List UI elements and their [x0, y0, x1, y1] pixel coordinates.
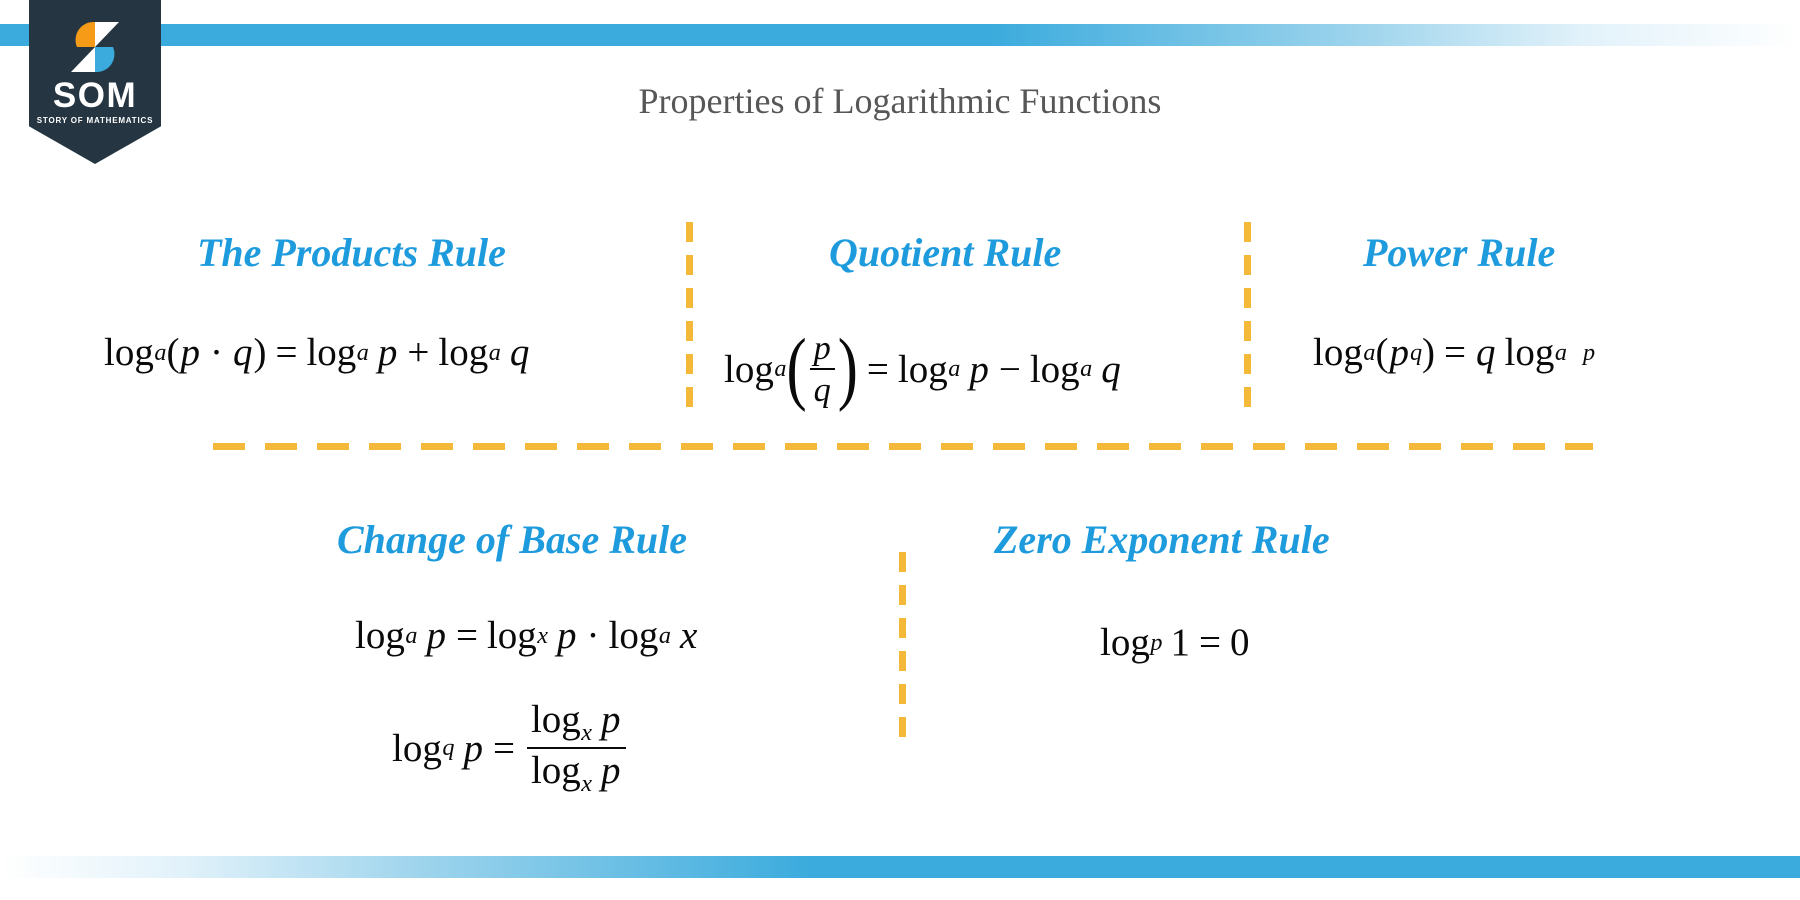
vertical-divider-2 — [1244, 222, 1251, 417]
log-base-2: a — [356, 339, 369, 367]
fraction-numerator: logxp — [527, 700, 626, 747]
slide-canvas: SOM STORY OF MATHEMATICS Properties of L… — [0, 0, 1800, 900]
arg-left: p — [462, 726, 484, 771]
rparen: ) — [1422, 330, 1435, 375]
top-banner-stripe — [0, 24, 1800, 46]
horizontal-divider — [213, 443, 1593, 450]
log-token-2: log — [898, 347, 948, 392]
log-base-3: a — [1080, 355, 1093, 383]
log-base: a — [1363, 339, 1376, 367]
fraction-log-over-log: logxp logxp — [527, 700, 626, 797]
fraction-numerator: p — [810, 330, 835, 368]
equals-sign: = — [1199, 620, 1221, 665]
arg-2: p — [377, 330, 399, 375]
log-result: 0 — [1230, 620, 1250, 665]
log-token: log — [104, 330, 154, 375]
log-token-2: log — [487, 613, 537, 658]
log-token: log — [1100, 620, 1150, 665]
arg-left: p — [425, 613, 447, 658]
formula-quotient-rule: loga( p q )=logap−logaq — [724, 330, 1122, 408]
power-trailing-arg: p — [1583, 339, 1595, 367]
vertical-divider-3 — [899, 552, 906, 742]
heading-quotient-rule: Quotient Rule — [829, 229, 1061, 276]
lparen: ( — [166, 330, 179, 375]
log-token: log — [392, 726, 442, 771]
arg-3: q — [509, 330, 531, 375]
log-base-left: q — [442, 734, 455, 762]
log-base-right: a — [658, 622, 671, 650]
som-logo-mark-icon — [67, 18, 123, 76]
log-token: log — [724, 347, 774, 392]
page-title: Properties of Logarithmic Functions — [0, 80, 1800, 122]
power-coefficient: q — [1475, 330, 1497, 375]
plus-operator: + — [407, 330, 429, 375]
log-base-left: a — [405, 622, 418, 650]
log-base-2: a — [1554, 339, 1567, 367]
rparen: ) — [838, 345, 858, 394]
lparen: ( — [1375, 330, 1388, 375]
vertical-divider-1 — [686, 222, 693, 417]
power-exponent: q — [1410, 339, 1422, 367]
heading-change-of-base-rule: Change of Base Rule — [337, 516, 687, 563]
numerator-arg: p — [600, 698, 622, 741]
minus-operator: − — [999, 347, 1021, 392]
arg-right: x — [679, 613, 698, 658]
fraction-denominator: q — [810, 370, 835, 408]
log-base-3: a — [488, 339, 501, 367]
rparen: ) — [253, 330, 266, 375]
heading-zero-exponent-rule: Zero Exponent Rule — [994, 516, 1330, 563]
log-base-2: a — [948, 355, 961, 383]
log-token-3: log — [438, 330, 488, 375]
dot-operator: · — [210, 330, 223, 375]
log-argument: 1 — [1170, 620, 1190, 665]
heading-products-rule: The Products Rule — [197, 229, 506, 276]
equals-sign: = — [1444, 330, 1466, 375]
log-token: log — [355, 613, 405, 658]
numerator-log-base: x — [581, 719, 592, 746]
log-token: log — [1313, 330, 1363, 375]
power-arg: p — [1388, 330, 1410, 375]
arg-right: q — [232, 330, 254, 375]
arg-3: q — [1100, 347, 1122, 392]
arg-mid: p — [556, 613, 578, 658]
log-token-2: log — [306, 330, 356, 375]
formula-products-rule: loga(p·q)=logap+logaq — [104, 330, 530, 375]
log-token-2: log — [1505, 330, 1555, 375]
log-token-3: log — [1030, 347, 1080, 392]
arg-2: p — [968, 347, 990, 392]
fraction-denominator: logxp — [527, 749, 626, 796]
bottom-banner-stripe — [0, 856, 1800, 878]
heading-power-rule: Power Rule — [1363, 229, 1555, 276]
equals-sign: = — [275, 330, 297, 375]
log-base: p — [1150, 629, 1163, 657]
dot-operator: · — [587, 613, 600, 658]
lparen: ( — [786, 345, 806, 394]
log-base: a — [154, 339, 167, 367]
log-token-3: log — [609, 613, 659, 658]
log-base: a — [774, 355, 787, 383]
denominator-log-token: log — [531, 749, 581, 792]
fraction-p-over-q: p q — [810, 330, 835, 408]
equals-sign: = — [867, 347, 889, 392]
log-base-mid: x — [537, 622, 548, 650]
arg-left: p — [179, 330, 201, 375]
equals-sign: = — [493, 726, 515, 771]
numerator-log-token: log — [531, 698, 581, 741]
formula-power-rule: loga(pq)=qlogap — [1313, 330, 1595, 375]
denominator-arg: p — [600, 749, 622, 792]
formula-change-of-base-1: logap=logxp·logax — [355, 613, 698, 658]
formula-zero-exponent-rule: logp1=0 — [1100, 620, 1249, 665]
formula-change-of-base-2: logqp= logxp logxp — [392, 700, 629, 797]
equals-sign: = — [456, 613, 478, 658]
denominator-log-base: x — [581, 770, 592, 797]
